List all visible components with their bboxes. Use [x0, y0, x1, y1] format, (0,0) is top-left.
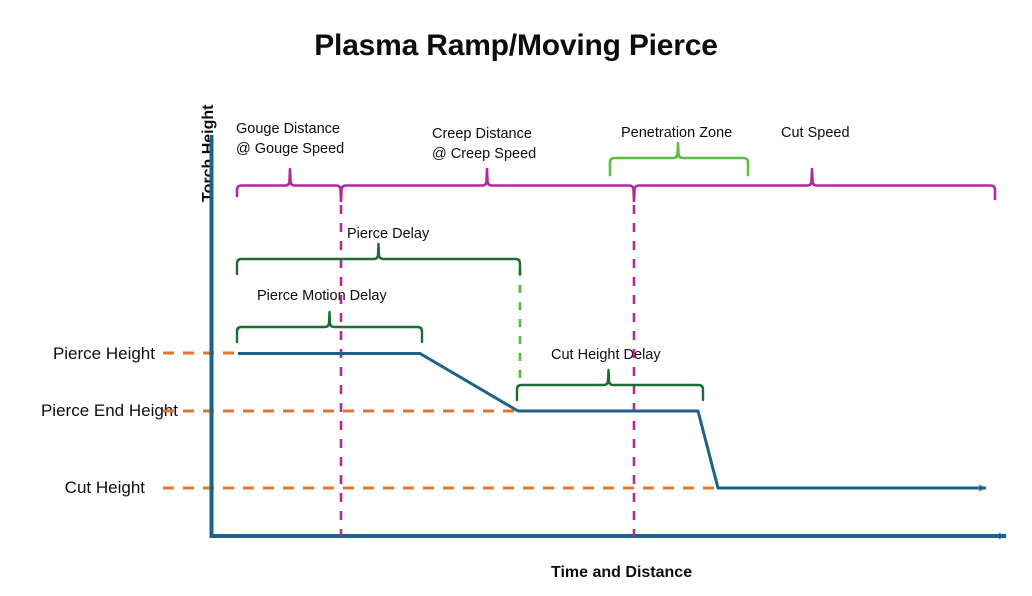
diagram-canvas: Plasma Ramp/Moving Pierce Torch Height T… [0, 0, 1032, 596]
diagram-svg [0, 0, 1032, 596]
bracket-pierce-motion-delay [237, 312, 422, 342]
bracket-cut-height-delay [517, 370, 703, 400]
bracket-penetration-zone [610, 143, 748, 175]
bracket-pierce-delay [237, 244, 520, 274]
speed-bracket-magenta [237, 169, 995, 201]
torch-height-curve [238, 354, 986, 489]
